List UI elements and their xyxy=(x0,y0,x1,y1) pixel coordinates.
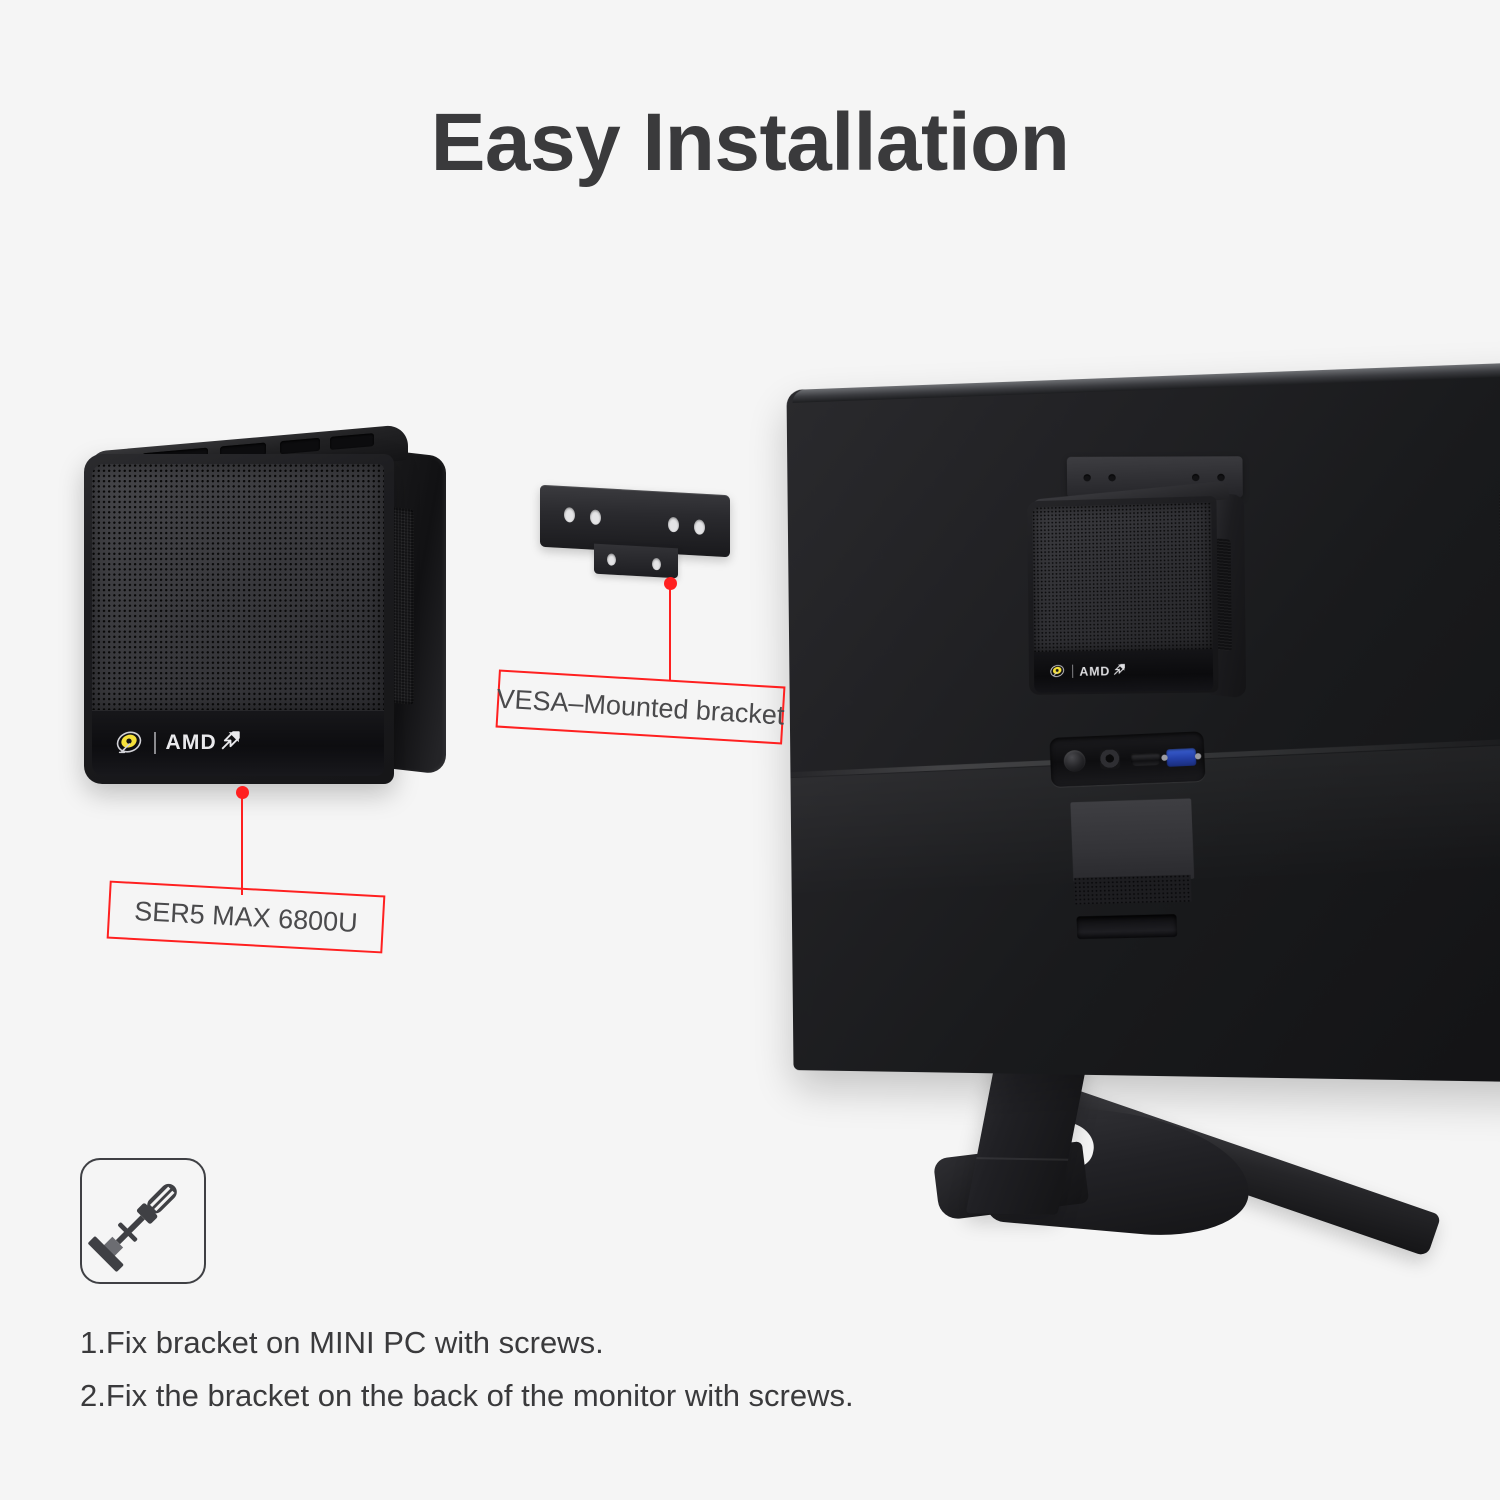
bracket-hole xyxy=(1217,474,1224,481)
mounted-amd-badge: AMD xyxy=(1079,662,1126,679)
amd-badge: AMD xyxy=(166,730,241,757)
badge-divider xyxy=(154,732,156,754)
vesa-bracket-illustration xyxy=(540,490,730,590)
amd-arrow-icon xyxy=(220,730,241,757)
dc-jack-icon xyxy=(1100,749,1121,769)
bracket-hole xyxy=(1192,474,1199,481)
stand-seam-lower xyxy=(976,1157,1068,1161)
installation-steps: 1.Fix bracket on MINI PC with screws. 2.… xyxy=(80,1316,1180,1423)
monitor-vesa-plate xyxy=(1070,798,1194,882)
amd-arrow-icon xyxy=(1112,662,1126,679)
bracket-hole xyxy=(564,507,575,523)
step-2: 2.Fix the bracket on the back of the mon… xyxy=(80,1369,1180,1422)
screwdriver-icon-box xyxy=(80,1158,206,1284)
bracket-hole xyxy=(694,519,705,535)
page-title: Easy Installation xyxy=(0,96,1500,190)
mounted-mini-pc: AMD xyxy=(1027,487,1250,697)
power-icon xyxy=(1063,750,1086,772)
bracket-hole xyxy=(668,517,679,533)
brand-badge: AMD xyxy=(114,728,241,758)
mounted-mini-pc-side-vent xyxy=(1216,538,1232,651)
monitor-back-panel: AMD xyxy=(786,362,1500,1083)
mounted-mini-pc-logo-strip: AMD xyxy=(1034,649,1213,693)
badge-divider xyxy=(1072,665,1073,678)
monitor-cable-slot xyxy=(1077,914,1178,939)
monitor-illustration: AMD xyxy=(760,370,1500,1310)
bracket-callout-leader xyxy=(669,584,671,680)
mounted-brand-badge: AMD xyxy=(1048,662,1126,681)
beelink-swirl-icon xyxy=(114,728,144,758)
mini-pc-illustration: AMD xyxy=(84,438,440,790)
mini-pc-callout-leader xyxy=(241,793,243,895)
mounted-amd-label: AMD xyxy=(1079,664,1110,679)
bracket-hole xyxy=(607,553,616,566)
bracket-hole xyxy=(590,509,601,525)
callout-mini-pc: SER5 MAX 6800U xyxy=(107,881,386,954)
monitor-top-edge-highlight xyxy=(792,362,1500,403)
mini-pc-body: AMD xyxy=(84,454,394,784)
monitor-port-cluster xyxy=(1049,731,1205,787)
mounted-mini-pc-body: AMD xyxy=(1027,496,1218,695)
bracket-hole xyxy=(1108,474,1115,481)
screwdriver-icon xyxy=(82,1264,199,1281)
vesa-bracket-tab xyxy=(594,544,678,579)
callout-mini-pc-label: SER5 MAX 6800U xyxy=(134,895,359,938)
callout-vesa-bracket: VESA–Mounted bracket xyxy=(496,670,786,745)
monitor-vent-strip xyxy=(1074,875,1192,905)
mini-pc-top-vent-slot xyxy=(330,433,374,450)
bracket-hole xyxy=(1083,474,1090,481)
mini-pc-mesh-panel xyxy=(92,464,384,710)
amd-label: AMD xyxy=(166,731,217,755)
mini-pc-logo-strip: AMD xyxy=(92,710,384,776)
vga-icon xyxy=(1166,748,1196,767)
beelink-swirl-icon xyxy=(1048,663,1066,681)
bracket-hole xyxy=(652,558,661,571)
callout-vesa-bracket-label: VESA–Mounted bracket xyxy=(496,683,786,731)
hdmi-icon xyxy=(1131,753,1161,767)
mounted-mini-pc-mesh-panel xyxy=(1032,502,1212,652)
marketing-image-canvas: Easy Installation xyxy=(0,0,1500,1500)
mini-pc-top-vent-slot xyxy=(280,438,320,454)
step-1: 1.Fix bracket on MINI PC with screws. xyxy=(80,1316,1180,1369)
